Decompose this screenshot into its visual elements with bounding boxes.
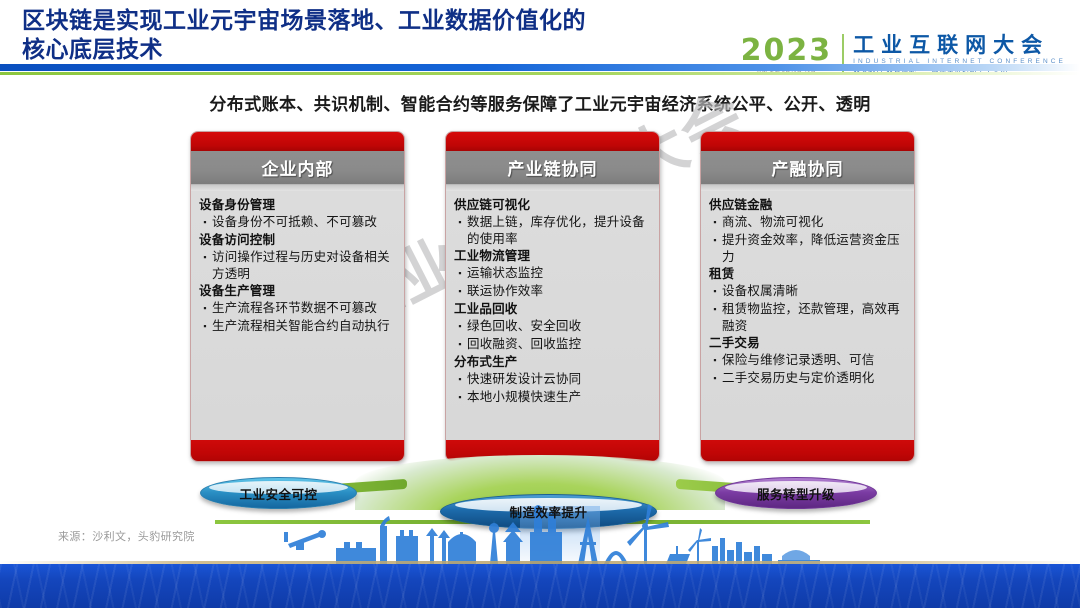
- header-divider-green: [0, 72, 1080, 75]
- list-item: ▪ 生产流程相关智能合约自动执行: [198, 318, 398, 335]
- list-item: ▪ 租赁物监控，还款管理，高效再融资: [708, 301, 908, 334]
- square-bullet-icon: ▪: [708, 214, 722, 231]
- list-item: ▪ 回收融资、回收监控: [453, 336, 653, 353]
- list-item: ▪ 提升资金效率，降低运营资金压力: [708, 232, 908, 265]
- card-industry-finance: 产融协同 供应链金融 ▪ 商流、物流可视化 ▪ 提升资金效率，降低运营资金压力 …: [700, 131, 915, 462]
- header-divider: [0, 64, 1080, 78]
- list-item: ▪ 绿色回收、安全回收: [453, 318, 653, 335]
- square-bullet-icon: ▪: [453, 371, 467, 388]
- group-title: 二手交易: [709, 335, 908, 351]
- list-item: ▪ 保险与维修记录透明、可信: [708, 352, 908, 369]
- list-item-label: 生产流程各环节数据不可篡改: [212, 300, 377, 317]
- card-top-accent-bar: [191, 132, 404, 151]
- outcome-pill-label: 服务转型升级: [757, 484, 835, 503]
- card-header: 企业内部: [191, 151, 404, 185]
- group-title: 工业物流管理: [454, 248, 653, 264]
- subtitle: 分布式账本、共识机制、智能合约等服务保障了工业元宇宙经济系统公平、公开、透明: [0, 90, 1080, 115]
- list-item-label: 生产流程相关智能合约自动执行: [212, 318, 390, 335]
- list-item-label: 联运协作效率: [467, 283, 543, 300]
- list-item-label: 提升资金效率，降低运营资金压力: [722, 232, 908, 265]
- list-item: ▪ 二手交易历史与定价透明化: [708, 370, 908, 387]
- group-title: 租赁: [709, 266, 908, 282]
- list-item-label: 数据上链，库存优化，提升设备的使用率: [467, 214, 653, 247]
- square-bullet-icon: ▪: [198, 300, 212, 317]
- square-bullet-icon: ▪: [453, 283, 467, 300]
- group-title: 设备身份管理: [199, 197, 398, 213]
- list-item: ▪ 联运协作效率: [453, 283, 653, 300]
- group-title: 供应链可视化: [454, 197, 653, 213]
- list-item-label: 快速研发设计云协同: [467, 371, 581, 388]
- group-title: 分布式生产: [454, 354, 653, 370]
- list-item: ▪ 访问操作过程与历史对设备相关方透明: [198, 249, 398, 282]
- card-top-accent-bar: [446, 132, 659, 151]
- list-item-label: 二手交易历史与定价透明化: [722, 370, 874, 387]
- card-body: 供应链可视化 ▪ 数据上链，库存优化，提升设备的使用率 工业物流管理 ▪ 运输状…: [446, 191, 659, 440]
- list-item: ▪ 快速研发设计云协同: [453, 371, 653, 388]
- square-bullet-icon: ▪: [453, 389, 467, 406]
- list-item: ▪ 设备权属清晰: [708, 283, 908, 300]
- card-header: 产融协同: [701, 151, 914, 185]
- card-title: 产业链协同: [508, 155, 598, 180]
- card-enterprise-internal: 企业内部 设备身份管理 ▪ 设备身份不可抵赖、不可篡改 设备访问控制 ▪ 访问操…: [190, 131, 405, 462]
- square-bullet-icon: ▪: [453, 265, 467, 282]
- slide-canvas: 区块链是实现工业元宇宙场景落地、工业数据价值化的 核心底层技术 2023 中国·…: [0, 0, 1080, 608]
- list-item-label: 绿色回收、安全回收: [467, 318, 581, 335]
- list-item-label: 设备身份不可抵赖、不可篡改: [212, 214, 377, 231]
- list-item-label: 访问操作过程与历史对设备相关方透明: [212, 249, 398, 282]
- card-header: 产业链协同: [446, 151, 659, 185]
- square-bullet-icon: ▪: [708, 301, 722, 334]
- footer-skyline: [0, 536, 1080, 608]
- page-title-line-2: 核心底层技术: [22, 35, 722, 64]
- list-item: ▪ 设备身份不可抵赖、不可篡改: [198, 214, 398, 231]
- water-shape: [0, 564, 1080, 608]
- list-item-label: 商流、物流可视化: [722, 214, 824, 231]
- card-title: 企业内部: [262, 155, 334, 180]
- outcome-pill-label: 工业安全可控: [239, 484, 317, 503]
- list-item-label: 保险与维修记录透明、可信: [722, 352, 874, 369]
- square-bullet-icon: ▪: [453, 214, 467, 247]
- list-item: ▪ 商流、物流可视化: [708, 214, 908, 231]
- group-title: 供应链金融: [709, 197, 908, 213]
- card-industry-chain: 产业链协同 供应链可视化 ▪ 数据上链，库存优化，提升设备的使用率 工业物流管理…: [445, 131, 660, 462]
- card-title: 产融协同: [772, 155, 844, 180]
- list-item: ▪ 数据上链，库存优化，提升设备的使用率: [453, 214, 653, 247]
- group-title: 工业品回收: [454, 301, 653, 317]
- square-bullet-icon: ▪: [708, 232, 722, 265]
- list-item-label: 运输状态监控: [467, 265, 543, 282]
- group-title: 设备生产管理: [199, 283, 398, 299]
- list-item-label: 回收融资、回收监控: [467, 336, 581, 353]
- square-bullet-icon: ▪: [198, 249, 212, 282]
- group-title: 设备访问控制: [199, 232, 398, 248]
- list-item-label: 租赁物监控，还款管理，高效再融资: [722, 301, 908, 334]
- logo-name-cn: 工业互联网大会: [853, 34, 1066, 57]
- list-item: ▪ 运输状态监控: [453, 265, 653, 282]
- square-bullet-icon: ▪: [708, 352, 722, 369]
- square-bullet-icon: ▪: [708, 283, 722, 300]
- square-bullet-icon: ▪: [198, 214, 212, 231]
- logo-year: 2023: [741, 36, 833, 66]
- square-bullet-icon: ▪: [453, 336, 467, 353]
- list-item-label: 本地小规模快速生产: [467, 389, 581, 406]
- header-divider-blue: [0, 64, 1080, 71]
- card-top-accent-bar: [701, 132, 914, 151]
- card-body: 供应链金融 ▪ 商流、物流可视化 ▪ 提升资金效率，降低运营资金压力 租赁 ▪ …: [701, 191, 914, 440]
- card-group: 企业内部 设备身份管理 ▪ 设备身份不可抵赖、不可篡改 设备访问控制 ▪ 访问操…: [0, 131, 1080, 461]
- page-title-line-1: 区块链是实现工业元宇宙场景落地、工业数据价值化的: [22, 6, 722, 35]
- card-body: 设备身份管理 ▪ 设备身份不可抵赖、不可篡改 设备访问控制 ▪ 访问操作过程与历…: [191, 191, 404, 440]
- list-item: ▪ 本地小规模快速生产: [453, 389, 653, 406]
- square-bullet-icon: ▪: [198, 318, 212, 335]
- outcome-pill-label: 制造效率提升: [509, 502, 587, 521]
- square-bullet-icon: ▪: [708, 370, 722, 387]
- square-bullet-icon: ▪: [453, 318, 467, 335]
- page-title: 区块链是实现工业元宇宙场景落地、工业数据价值化的 核心底层技术: [22, 6, 722, 64]
- list-item-label: 设备权属清晰: [722, 283, 798, 300]
- list-item: ▪ 生产流程各环节数据不可篡改: [198, 300, 398, 317]
